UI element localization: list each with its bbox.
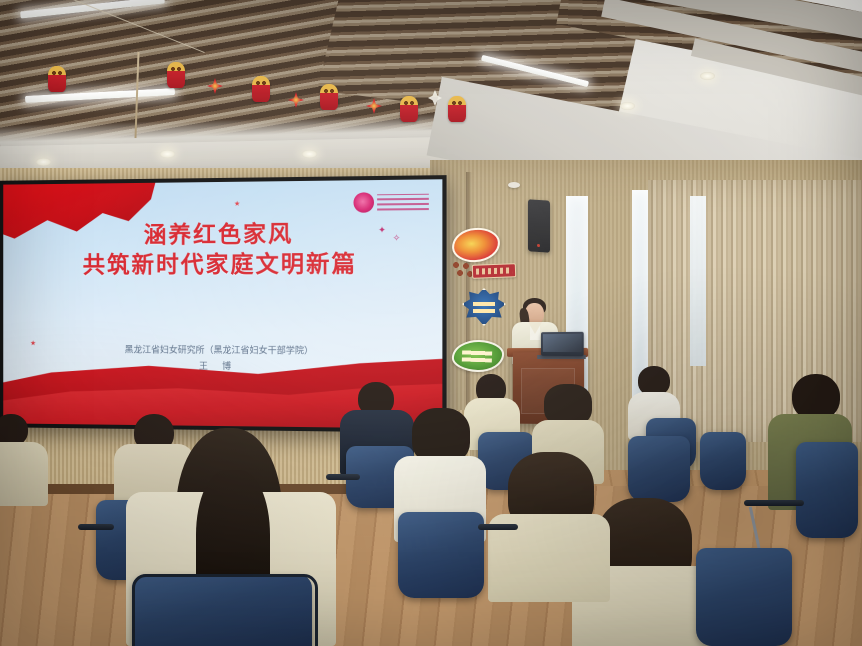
chair-arm-a5: [478, 524, 518, 530]
torso: [0, 442, 48, 506]
ceiling-doll-ornament-0: [48, 66, 66, 92]
chair-arm-a3: [326, 474, 360, 480]
chair-a6: [628, 436, 690, 502]
chair-arm-a1: [78, 524, 114, 530]
ceiling-doll-ornament-5: [448, 96, 466, 122]
slide-logo: [353, 192, 429, 215]
downlight-5: [700, 72, 715, 80]
downlight-2: [160, 150, 175, 158]
downlight-3: [302, 150, 317, 158]
chair-a9: [696, 548, 792, 646]
chair-a10: [796, 442, 858, 538]
slide-logo-mark-icon: [353, 192, 374, 212]
downlight-1: [36, 158, 51, 166]
window-pane-right: [690, 196, 706, 366]
wall-speaker: [528, 199, 550, 253]
chair-empty-right: [700, 432, 746, 490]
slide-logo-text-block: [377, 194, 429, 211]
slide-title: 涵养红色家风 共筑新时代家庭文明新篇: [3, 218, 442, 280]
wall-dot-cluster-decor: [452, 262, 474, 280]
speaker-led-icon: [537, 244, 540, 247]
wall-badge-plaque: [472, 263, 516, 279]
downlight-4: [620, 102, 635, 110]
laptop: [541, 332, 584, 356]
ceiling-doll-ornament-2: [252, 76, 270, 102]
ceiling-doll-ornament-4: [400, 96, 418, 122]
chair-arm-a10: [744, 500, 804, 506]
slide-star-1: ★: [234, 200, 240, 208]
smoke-detector-icon: [508, 182, 520, 188]
chair-a5: [398, 512, 484, 598]
curtain-right: [586, 186, 632, 448]
slide-title-line-1: 涵养红色家风: [3, 218, 442, 251]
photo-scene: ★ ★ ✦ ✧ 涵养红色家风 共筑新时代家庭文明新篇 黑龙江省妇女研究所（黑龙江…: [0, 0, 862, 646]
ceiling-doll-ornament-3: [320, 84, 338, 110]
slide-title-line-2: 共筑新时代家庭文明新篇: [3, 249, 442, 281]
chair-a2-rim: [132, 574, 318, 646]
